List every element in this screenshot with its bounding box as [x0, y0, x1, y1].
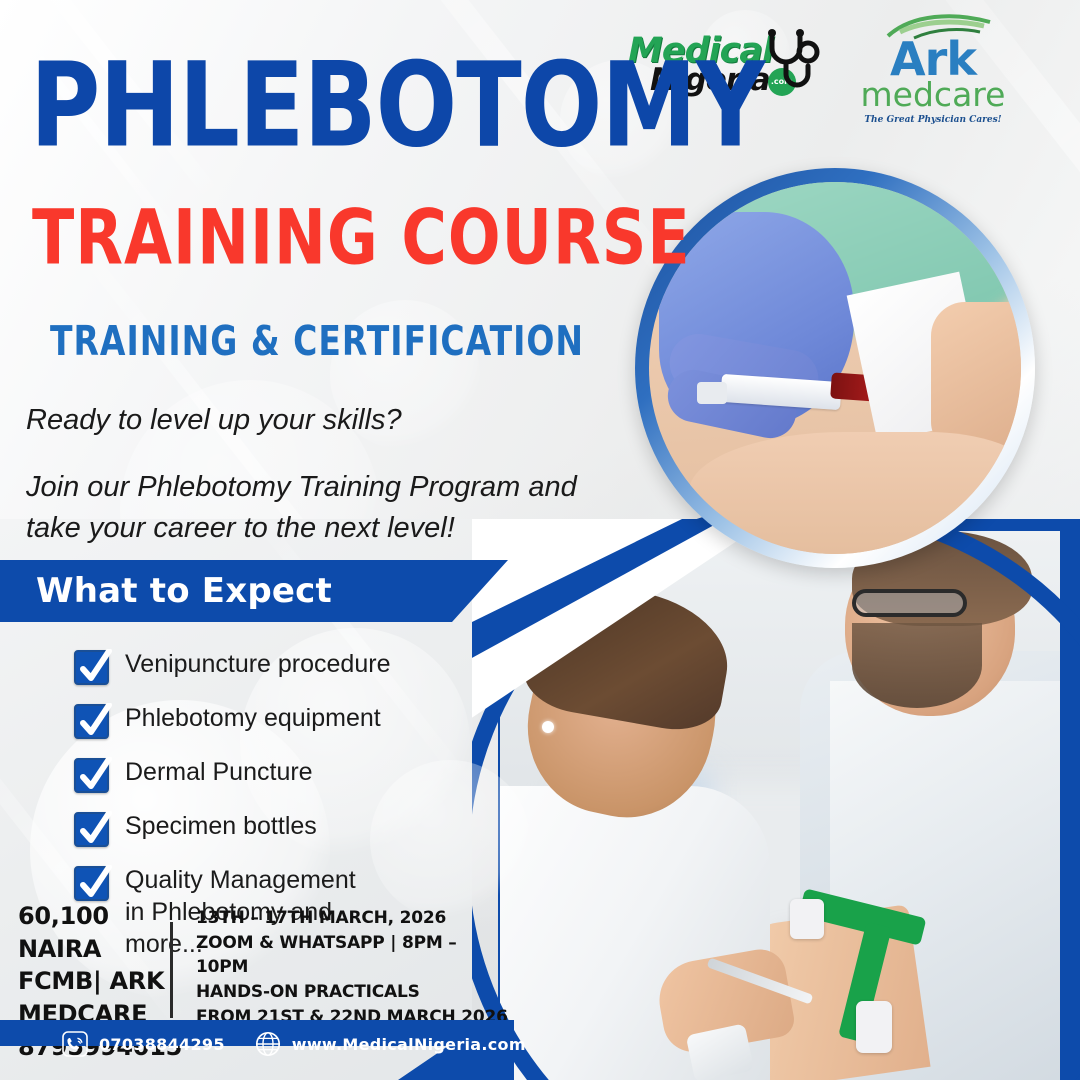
- lede-line-1: Ready to level up your skills?: [26, 400, 636, 441]
- checkmark-icon: [74, 866, 109, 901]
- poster-canvas: Medical Nigeria .com: [0, 0, 1080, 1080]
- list-item: Venipuncture procedure: [74, 648, 494, 685]
- list-item: Dermal Puncture: [74, 756, 494, 793]
- photo-tourniquet-clip-bottom: [856, 1001, 892, 1053]
- list-item: Specimen bottles: [74, 810, 494, 847]
- list-item-label: Dermal Puncture: [125, 756, 313, 788]
- schedule-divider: [170, 922, 173, 1018]
- page-title: PHLEBOTOMY: [30, 48, 764, 163]
- price-bank: FCMB| ARK: [18, 965, 178, 998]
- schedule-line: HANDS-ON PRACTICALS: [196, 980, 508, 1005]
- ark-tagline: The Great Physician Cares!: [848, 115, 1018, 125]
- phone-ring-icon: [62, 1031, 88, 1057]
- circle-photo: [649, 182, 1021, 554]
- ark-subword: medcare: [848, 78, 1018, 111]
- logo-ark-medcare[interactable]: Ark medcare The Great Physician Cares!: [848, 22, 1018, 134]
- contact-website[interactable]: www.MedicalNigeria.com: [255, 1031, 526, 1057]
- list-item-label: Specimen bottles: [125, 810, 317, 842]
- page-kicker: TRAINING & CERTIFICATION: [50, 320, 584, 361]
- circle-photo-wrapper: [635, 168, 1035, 568]
- circ-forearm: [689, 432, 1021, 554]
- globe-icon: [255, 1031, 281, 1057]
- page-subtitle: TRAINING COURSE: [32, 200, 691, 276]
- schedule-line: 13TH – 17TH MARCH, 2026: [196, 906, 508, 931]
- list-item: Phlebotomy equipment: [74, 702, 494, 739]
- lede-copy: Ready to level up your skills? Join our …: [26, 400, 636, 550]
- schedule-line: ZOOM & WHATSAPP | 8PM – 10PM: [196, 931, 508, 980]
- photo-nurse-earring: [542, 721, 554, 733]
- price-amount: 60,100 NAIRA: [18, 900, 178, 965]
- stethoscope-icon: [764, 28, 822, 105]
- contact-phone[interactable]: 07038844295: [62, 1031, 225, 1057]
- photo-patient-beard: [852, 623, 982, 708]
- checkmark-icon: [74, 650, 109, 685]
- lede-line-2: Join our Phlebotomy Training Program and…: [26, 467, 636, 549]
- contact-website-label: www.MedicalNigeria.com: [292, 1035, 526, 1054]
- checkmark-icon: [74, 704, 109, 739]
- contact-footer-content: 07038844295 www.MedicalNigeria.com: [0, 1020, 514, 1068]
- photo-tourniquet-clip-top: [790, 899, 824, 939]
- ark-swoosh-icon: [848, 22, 1018, 38]
- contact-phone-label: 07038844295: [99, 1035, 225, 1054]
- list-item-label: Phlebotomy equipment: [125, 702, 381, 734]
- circ-patient-hand: [931, 302, 1021, 452]
- list-item-label: Venipuncture procedure: [125, 648, 390, 680]
- circ-syringe-plunger: [697, 382, 727, 404]
- what-to-expect-label: What to Expect: [36, 571, 332, 611]
- what-to-expect-banner: What to Expect: [0, 560, 508, 622]
- checkmark-icon: [74, 812, 109, 847]
- photo-patient-glasses: [852, 589, 967, 617]
- checkmark-icon: [74, 758, 109, 793]
